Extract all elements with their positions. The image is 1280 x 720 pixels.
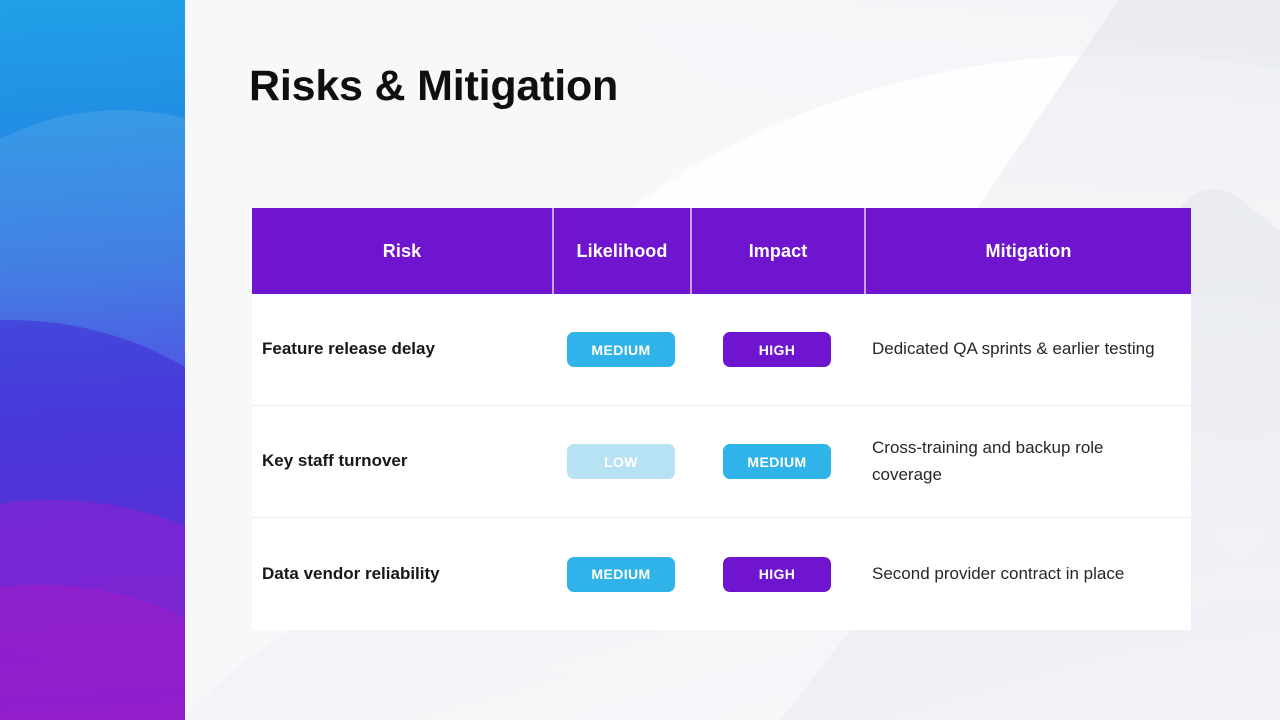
likelihood-cell: MEDIUM — [552, 332, 690, 367]
column-header-impact: Impact — [690, 208, 864, 294]
status-badge-impact: HIGH — [723, 557, 831, 592]
impact-cell: MEDIUM — [690, 444, 864, 479]
table-row: Key staff turnover LOW MEDIUM Cross-trai… — [252, 406, 1191, 518]
likelihood-cell: LOW — [552, 444, 690, 479]
column-header-likelihood: Likelihood — [552, 208, 690, 294]
status-badge-likelihood: MEDIUM — [567, 332, 675, 367]
column-header-risk: Risk — [252, 208, 552, 294]
risk-name: Key staff turnover — [252, 450, 552, 472]
table-header-row: Risk Likelihood Impact Mitigation — [252, 208, 1191, 294]
table-row: Data vendor reliability MEDIUM HIGH Seco… — [252, 518, 1191, 630]
column-header-mitigation: Mitigation — [864, 208, 1191, 294]
mitigation-text: Second provider contract in place — [864, 561, 1191, 587]
risk-name: Feature release delay — [252, 338, 552, 360]
likelihood-cell: MEDIUM — [552, 557, 690, 592]
mitigation-text: Dedicated QA sprints & earlier testing — [864, 336, 1191, 362]
mitigation-text: Cross-training and backup role coverage — [864, 435, 1191, 488]
risk-name: Data vendor reliability — [252, 563, 552, 585]
status-badge-impact: MEDIUM — [723, 444, 831, 479]
slide-canvas: Risks & Mitigation Risk Likelihood Impac… — [0, 0, 1280, 720]
impact-cell: HIGH — [690, 332, 864, 367]
table-row: Feature release delay MEDIUM HIGH Dedica… — [252, 294, 1191, 406]
sidebar-gradient-bar — [0, 0, 185, 720]
sidebar-wave-magenta — [0, 585, 185, 720]
status-badge-likelihood: MEDIUM — [567, 557, 675, 592]
status-badge-impact: HIGH — [723, 332, 831, 367]
risks-table: Risk Likelihood Impact Mitigation Featur… — [252, 208, 1191, 630]
impact-cell: HIGH — [690, 557, 864, 592]
page-title: Risks & Mitigation — [249, 62, 618, 111]
status-badge-likelihood: LOW — [567, 444, 675, 479]
